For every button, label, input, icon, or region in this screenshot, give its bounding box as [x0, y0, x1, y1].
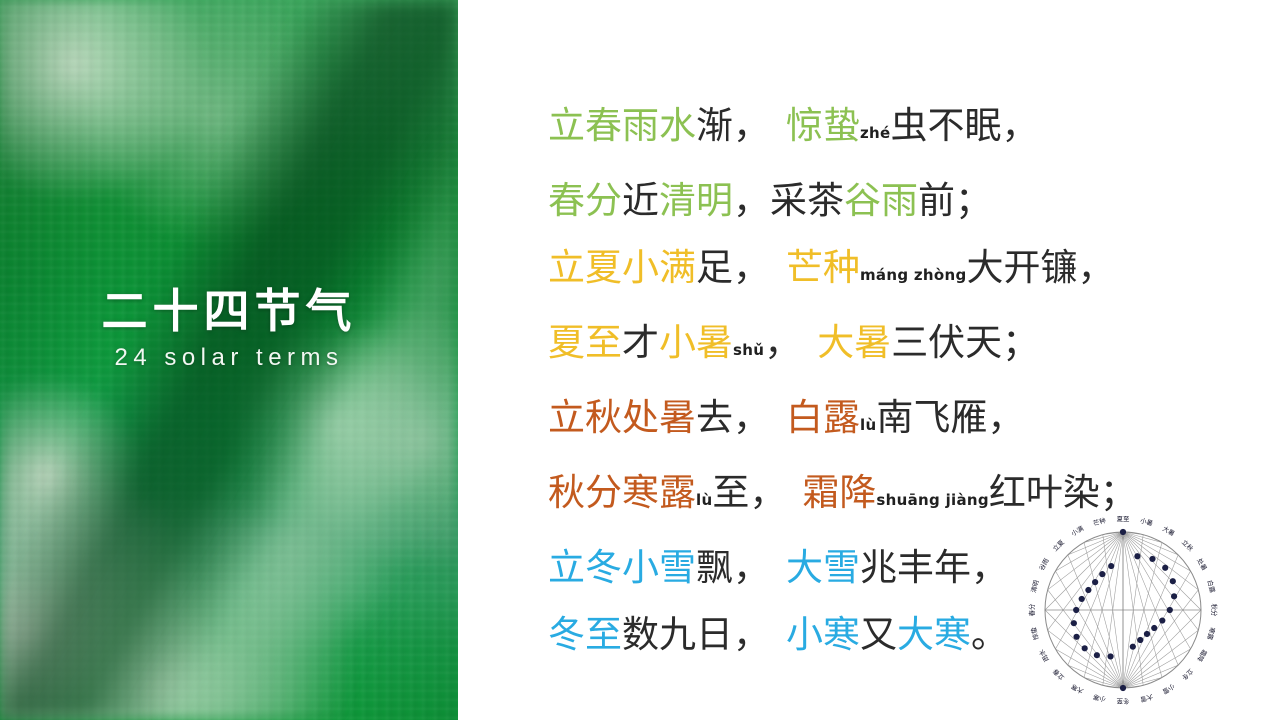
- poem-segment-plain: 飘，: [696, 546, 770, 589]
- wheel-term-label: 立秋: [1180, 538, 1196, 554]
- wheel-chord-line: [1123, 532, 1162, 678]
- wheel-chord-line: [1123, 532, 1191, 571]
- wheel-term-dot: [1079, 596, 1085, 602]
- poem-segment-winter: 大寒: [897, 613, 971, 656]
- wheel-term-label: 雨水: [1036, 647, 1050, 663]
- wheel-term-dot: [1120, 529, 1126, 535]
- wheel-chord-line: [1103, 532, 1123, 685]
- wheel-term-dot: [1171, 593, 1177, 599]
- wheel-chord-line: [1123, 649, 1191, 688]
- wheel-term-dot: [1167, 607, 1173, 613]
- wheel-term-label: 惊蛰: [1028, 626, 1040, 641]
- poem-line: 立春雨水渐，惊蛰zhé虫不眠，: [548, 92, 1168, 167]
- poem-segment-plain: ，采茶: [733, 179, 844, 222]
- poem-segment-summer: 夏至: [548, 321, 622, 364]
- wheel-term-label: 芒种: [1092, 516, 1107, 528]
- wheel-term-label: 立夏: [1051, 537, 1067, 553]
- poem-segment-spring: 立春雨水: [548, 104, 696, 147]
- wheel-chord-line: [1068, 532, 1123, 665]
- poem-segment-winter: 冬至: [548, 613, 622, 656]
- poem-line: 立夏小满足，芒种máng zhòng大开镰，: [548, 234, 1168, 309]
- pinyin-annotation: lù: [860, 416, 876, 434]
- wheel-chord-line: [1084, 542, 1123, 688]
- wheel-term-label: 大雪: [1139, 692, 1154, 704]
- poem-segment-plain: 至，: [712, 471, 786, 514]
- wheel-chord-line: [1123, 542, 1162, 688]
- poem-segment-autumn: 白露: [786, 396, 860, 439]
- poem-segment-plain: 才: [622, 321, 659, 364]
- pinyin-annotation: zhé: [860, 124, 890, 142]
- wheel-term-label: 谷雨: [1037, 556, 1051, 572]
- poem-segment-summer: 芒种: [786, 246, 860, 289]
- wheel-term-label: 霜降: [1195, 648, 1209, 664]
- poem-segment-winter: 小寒: [786, 613, 860, 656]
- pinyin-annotation: lù: [696, 491, 712, 509]
- poem-segment-plain: 南飞雁，: [876, 396, 1024, 439]
- poem-segment-plain: 又: [860, 613, 897, 656]
- wheel-term-dot: [1130, 644, 1136, 650]
- wheel-term-dot: [1092, 579, 1098, 585]
- poem-segment-winter: 立冬小雪: [548, 546, 696, 589]
- wheel-term-label: 小雪: [1161, 682, 1177, 696]
- wheel-term-label: 清明: [1029, 579, 1041, 594]
- wheel-term-dot: [1162, 565, 1168, 571]
- poem-segment-spring: 谷雨: [844, 179, 918, 222]
- wheel-term-dot: [1120, 685, 1126, 691]
- wheel-term-dot: [1159, 617, 1165, 623]
- pinyin-annotation: shǔ: [733, 341, 764, 359]
- wheel-term-dot: [1071, 620, 1077, 626]
- wheel-term-label: 小满: [1069, 523, 1085, 537]
- poem-segment-plain: 数九日，: [622, 613, 770, 656]
- wheel-term-dot: [1073, 607, 1079, 613]
- wheel-term-dot: [1073, 634, 1079, 640]
- wheel-term-dot: [1099, 571, 1105, 577]
- wheel-term-label: 秋分: [1210, 604, 1219, 617]
- wheel-term-label: 小寒: [1091, 692, 1106, 704]
- poem-line: 立秋处暑去，白露lù南飞雁，: [548, 384, 1168, 459]
- poem-segment-spring: 清明: [659, 179, 733, 222]
- wheel-term-label: 夏至: [1117, 515, 1130, 523]
- wheel-svg: 夏至小暑大暑立秋处暑白露秋分寒露霜降立冬小雪大雪冬至小寒大寒立春雨水惊蛰春分清明…: [1012, 500, 1234, 716]
- wheel-term-dot: [1107, 653, 1113, 659]
- wheel-term-dot: [1170, 578, 1176, 584]
- poem-segment-plain: 近: [622, 179, 659, 222]
- wheel-chord-line: [1084, 532, 1123, 678]
- poem-line: 春分近清明，采茶谷雨前；: [548, 167, 1168, 234]
- poem-segment-plain: 去，: [696, 396, 770, 439]
- wheel-term-label: 大暑: [1161, 524, 1177, 538]
- poem-segment-plain: ，: [764, 321, 801, 364]
- poem-segment-spring: 春分: [548, 179, 622, 222]
- poem-segment-plain: 前；: [918, 179, 992, 222]
- wheel-term-dot: [1144, 631, 1150, 637]
- poem-segment-plain: 三伏天；: [891, 321, 1039, 364]
- poem-segment-autumn: 立秋处暑: [548, 396, 696, 439]
- wheel-term-label: 立春: [1050, 667, 1066, 683]
- poem-segment-winter: 大雪: [786, 546, 860, 589]
- wheel-chord-lines: [1045, 532, 1201, 688]
- wheel-term-label: 寒露: [1205, 626, 1217, 641]
- poem-segment-summer: 立夏小满: [548, 246, 696, 289]
- pinyin-annotation: shuāng jiàng: [876, 491, 988, 509]
- wheel-term-label: 小暑: [1139, 516, 1154, 528]
- wheel-term-dot: [1108, 563, 1114, 569]
- poem-segment-summer: 小暑: [659, 321, 733, 364]
- wheel-term-dot: [1137, 637, 1143, 643]
- poem-segment-plain: 渐，: [696, 104, 770, 147]
- poem-segment-plain: 足，: [696, 246, 770, 289]
- wheel-term-dot: [1151, 625, 1157, 631]
- poem-line: 夏至才小暑shǔ，大暑三伏天；: [548, 309, 1168, 384]
- wheel-chord-line: [1123, 555, 1178, 688]
- poem-segment-autumn: 霜降: [802, 471, 876, 514]
- wheel-term-label: 大寒: [1069, 682, 1085, 696]
- page-title-cn: 二十四节气: [0, 286, 458, 338]
- wheel-term-label: 白露: [1205, 579, 1217, 594]
- poem-segment-plain: 虫不眠，: [890, 104, 1038, 147]
- poem-segment-autumn: 秋分寒露: [548, 471, 696, 514]
- wheel-term-dot: [1094, 652, 1100, 658]
- slide-canvas: 二十四节气 24 solar terms 立春雨水渐，惊蛰zhé虫不眠，春分近清…: [0, 0, 1280, 720]
- wheel-term-label: 冬至: [1116, 697, 1129, 706]
- wheel-term-dot: [1149, 556, 1155, 562]
- wheel-term-dot: [1085, 587, 1091, 593]
- poem-segment-plain: 兆丰年，: [860, 546, 1008, 589]
- pinyin-annotation: máng zhòng: [860, 266, 967, 284]
- wheel-term-label: 春分: [1027, 603, 1036, 616]
- left-image-panel: 二十四节气 24 solar terms: [0, 0, 458, 720]
- poem-segment-plain: 。: [971, 613, 1008, 656]
- wheel-chord-line: [1123, 532, 1191, 649]
- poem-segment-spring: 惊蛰: [786, 104, 860, 147]
- solar-terms-wheel-diagram: 夏至小暑大暑立秋处暑白露秋分寒露霜降立冬小雪大雪冬至小寒大寒立春雨水惊蛰春分清明…: [1012, 500, 1234, 716]
- poem-segment-plain: 大开镰，: [967, 246, 1115, 289]
- wheel-term-label: 立冬: [1180, 667, 1196, 683]
- wheel-chord-line: [1103, 535, 1123, 688]
- poem-segment-summer: 大暑: [817, 321, 891, 364]
- wheel-term-dot: [1134, 553, 1140, 559]
- title-block: 二十四节气 24 solar terms: [0, 286, 458, 372]
- page-subtitle-en: 24 solar terms: [0, 344, 458, 372]
- wheel-term-label: 处暑: [1195, 556, 1209, 572]
- wheel-term-dot: [1082, 645, 1088, 651]
